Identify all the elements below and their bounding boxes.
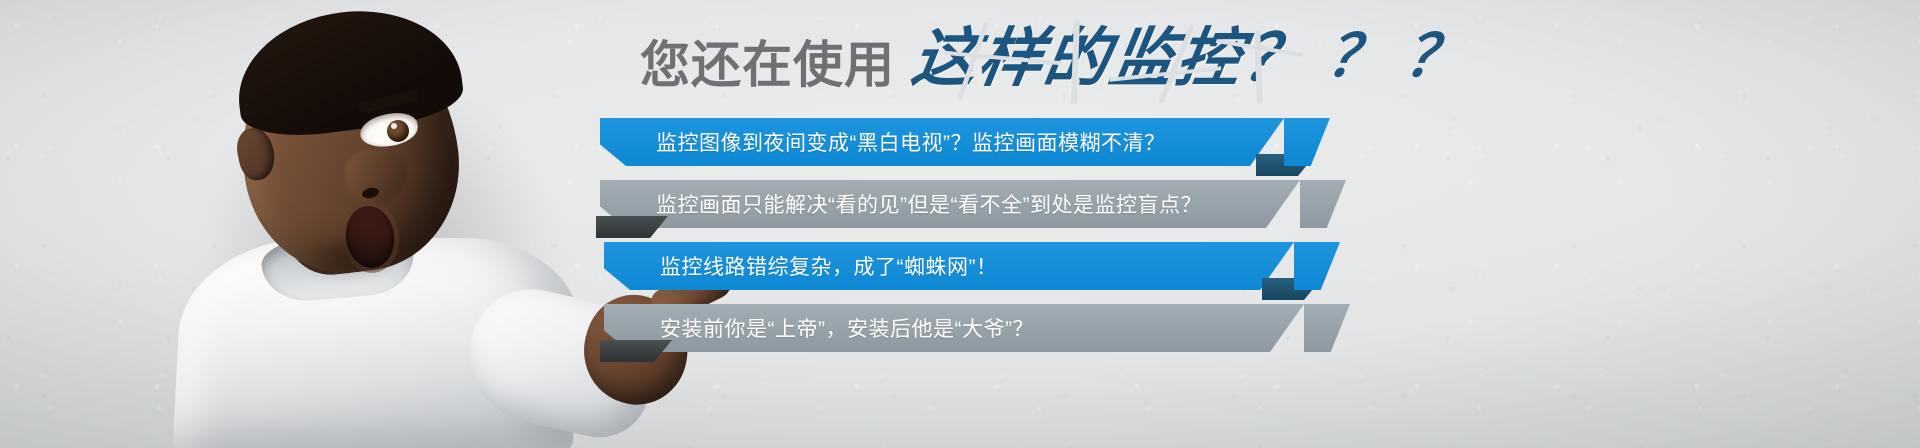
headline-question-marks: ？？ xyxy=(1322,28,1488,90)
pain-point-text: 安装前你是“上帝”，安装后他是“大爷”？ xyxy=(604,313,1034,343)
pain-point-row-1: 监控图像到夜间变成“黑白电视”？监控画面模糊不清？ xyxy=(600,118,1284,166)
headline-emphasis-text: 这样的监控？ xyxy=(907,22,1314,94)
row-shadow-tab xyxy=(600,340,672,362)
headline-lead: 您还在使用 xyxy=(640,40,895,90)
pain-point-text: 监控图像到夜间变成“黑白电视”？监控画面模糊不清？ xyxy=(600,127,1165,157)
pain-point-row-4: 安装前你是“上帝”，安装后他是“大爷”？ xyxy=(604,304,1304,352)
row-arrow-tip xyxy=(1294,242,1340,290)
promo-banner: 您还在使用 这样的监控？ ？？ 监控图像到夜间变成“黑白电视”？监控画面模糊不清… xyxy=(0,0,1920,448)
pain-point-row-2: 监控画面只能解决“看的见”但是“看不全”到处是监控盲点？ xyxy=(600,180,1300,228)
row-arrow-tip xyxy=(1300,180,1346,228)
pain-point-row-3: 监控线路错综复杂，成了“蜘蛛网”！ xyxy=(604,242,1294,290)
row-arrow-tip xyxy=(1284,118,1330,166)
pain-point-list: 监控图像到夜间变成“黑白电视”？监控画面模糊不清？ 监控画面只能解决“看的见”但… xyxy=(0,118,1920,368)
pain-point-text: 监控画面只能解决“看的见”但是“看不全”到处是监控盲点？ xyxy=(600,189,1202,219)
headline-emphasis: 这样的监控？ xyxy=(908,26,1314,90)
row-shadow-tab xyxy=(596,216,668,238)
pain-point-text: 监控线路错综复杂，成了“蜘蛛网”！ xyxy=(604,251,998,281)
headline: 您还在使用 这样的监控？ ？？ xyxy=(640,26,1483,90)
row-arrow-tip xyxy=(1304,304,1350,352)
